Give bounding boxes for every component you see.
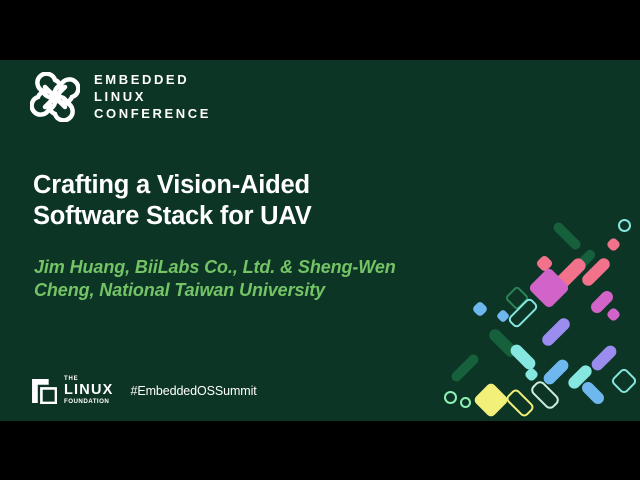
decor-shape (487, 327, 520, 360)
decor-shape (615, 216, 633, 234)
decor-shape (528, 267, 570, 309)
decor-shape (550, 256, 588, 294)
decor-shape (472, 301, 489, 318)
decor-shape (589, 343, 619, 373)
talk-speakers-line-1: Jim Huang, BiiLabs Co., Ltd. & Sheng-Wen (34, 256, 494, 279)
talk-speakers-line-2: Cheng, National Taiwan University (34, 279, 494, 302)
linux-foundation-wordmark: THE LINUX FOUNDATION (64, 376, 114, 405)
decor-shape (589, 289, 616, 316)
slide-frame: EMBEDDED LINUX CONFERENCE Crafting a Vis… (0, 0, 640, 480)
letterbox-bottom (0, 421, 640, 480)
elc-wordmark: EMBEDDED LINUX CONFERENCE (94, 73, 211, 121)
decor-shape (606, 237, 622, 253)
linux-foundation-icon (31, 378, 57, 404)
circuit-geometric-pattern (430, 211, 640, 421)
decor-shape (540, 316, 573, 349)
decor-shape (524, 367, 540, 383)
event-hashtag: #EmbeddedOSSummit (131, 384, 257, 398)
decor-shape (508, 342, 538, 372)
decor-shape (449, 352, 480, 383)
linux-foundation-lockup: THE LINUX FOUNDATION (31, 376, 114, 405)
decor-shape (566, 363, 594, 391)
celtic-knot-icon (30, 72, 80, 122)
decor-shape (610, 367, 638, 395)
decor-shape (473, 382, 510, 419)
decor-shape (504, 387, 535, 418)
brand-line-conference: CONFERENCE (94, 107, 211, 121)
decor-shape (580, 380, 607, 407)
decor-shape (551, 220, 582, 251)
talk-title-line-1: Crafting a Vision-Aided (33, 170, 463, 201)
slide-footer: THE LINUX FOUNDATION #EmbeddedOSSummit (31, 376, 257, 405)
brand-line-embedded: EMBEDDED (94, 73, 211, 87)
lf-foundation: FOUNDATION (64, 399, 114, 405)
decor-shape (580, 256, 613, 289)
slide-canvas: EMBEDDED LINUX CONFERENCE Crafting a Vis… (0, 60, 640, 421)
talk-speakers: Jim Huang, BiiLabs Co., Ltd. & Sheng-Wen… (34, 256, 494, 302)
talk-title: Crafting a Vision-Aided Software Stack f… (33, 170, 463, 232)
lf-linux: LINUX (64, 383, 114, 398)
decor-shape (529, 379, 562, 412)
decor-shape (504, 285, 529, 310)
decor-shape (535, 254, 553, 272)
talk-title-line-2: Software Stack for UAV (33, 201, 463, 232)
letterbox-top (0, 0, 640, 60)
decor-shape (541, 357, 571, 387)
decor-shape (441, 388, 459, 406)
brand-line-linux: LINUX (94, 90, 211, 104)
decor-shape (606, 307, 622, 323)
decor-shape (507, 297, 540, 330)
elc-brand-lockup: EMBEDDED LINUX CONFERENCE (30, 72, 211, 122)
decor-shape (458, 395, 474, 411)
decor-shape (569, 248, 597, 276)
decor-shape (496, 309, 510, 323)
